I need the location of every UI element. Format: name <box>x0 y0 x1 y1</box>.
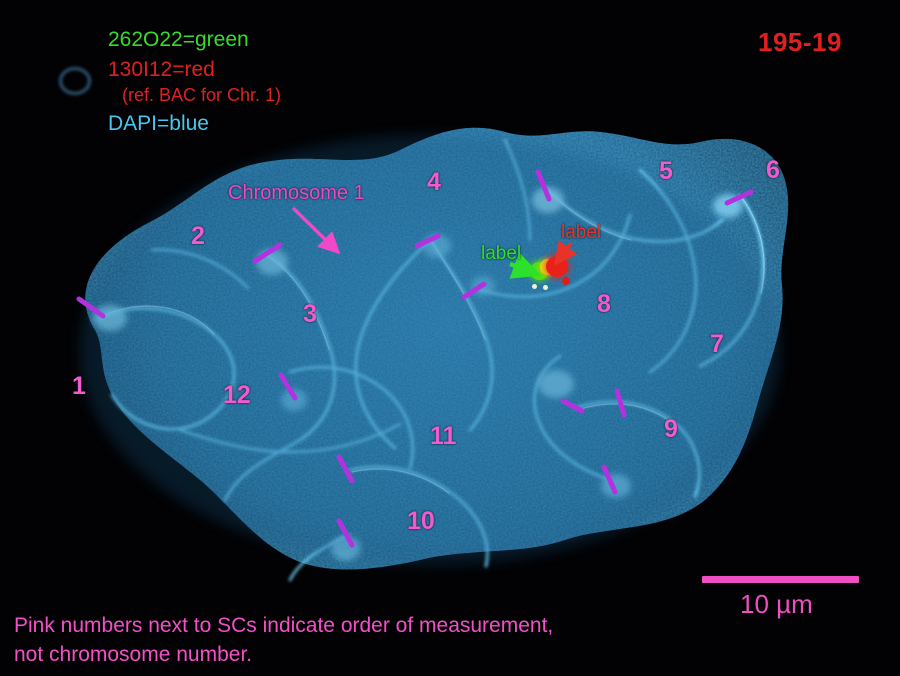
sc-number-1: 1 <box>72 372 86 401</box>
sc-number-10: 10 <box>407 507 435 536</box>
fish-marker-dot-2 <box>543 285 548 290</box>
caption-line-1: Pink numbers next to SCs indicate order … <box>14 612 553 640</box>
chromosome-1-label: Chromosome 1 <box>228 182 365 205</box>
slide-id-label: 195-19 <box>758 28 842 58</box>
red-signal-label: label <box>561 222 601 244</box>
sc-number-6: 6 <box>766 156 780 185</box>
sc-number-4: 4 <box>427 168 441 197</box>
micrograph-canvas: 262O22=green 130I12=red (ref. BAC for Ch… <box>0 0 900 676</box>
caption-line-2: not chromosome number. <box>14 641 252 669</box>
sc-number-12: 12 <box>223 381 251 410</box>
sc-number-5: 5 <box>659 157 673 186</box>
scale-bar <box>702 576 859 583</box>
fish-marker-dot-1 <box>532 284 537 289</box>
debris-particle <box>59 67 91 95</box>
sc-number-11: 11 <box>430 422 456 451</box>
legend-probe-red: 130I12=red <box>108 58 215 82</box>
legend-probe-green: 262O22=green <box>108 28 249 52</box>
fish-red-signal <box>546 256 568 277</box>
scale-bar-label: 10 µm <box>740 590 813 620</box>
fish-red-satellite <box>562 277 570 285</box>
legend-counterstain: DAPI=blue <box>108 112 209 136</box>
sc-number-8: 8 <box>597 290 611 319</box>
green-signal-label: label <box>481 243 521 265</box>
sc-number-3: 3 <box>303 300 317 329</box>
sc-number-7: 7 <box>710 330 724 359</box>
sc-number-9: 9 <box>664 415 678 444</box>
sc-number-2: 2 <box>191 222 205 251</box>
legend-probe-red-note: (ref. BAC for Chr. 1) <box>122 85 281 106</box>
